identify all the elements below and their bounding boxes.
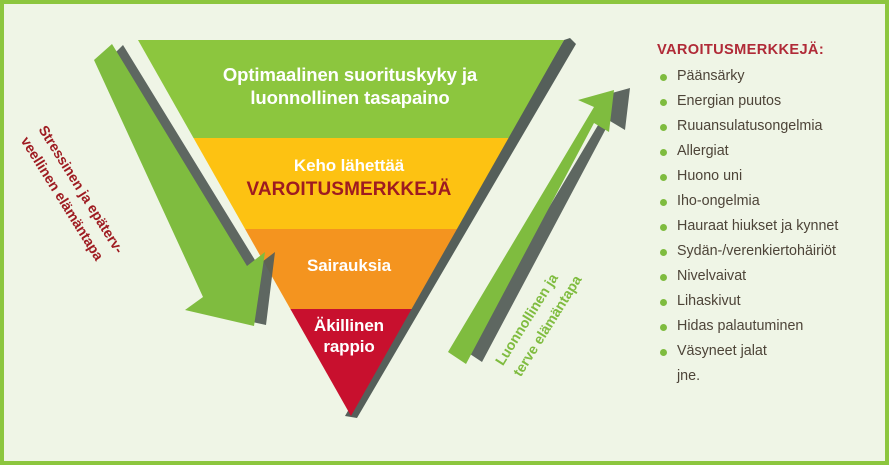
warning-sign-item: Sydän-/verenkiertohäiriöt [657, 244, 885, 260]
bullet-icon [660, 324, 667, 331]
warning-sign-item: Huono uni [657, 169, 885, 185]
warning-sign-item: jne. [657, 369, 885, 385]
infographic-root: Optimaalinen suorituskyky ja luonnolline… [0, 0, 889, 465]
warning-sign-label: Huono uni [677, 168, 742, 184]
bullet-icon [660, 199, 667, 206]
bullet-icon [660, 174, 667, 181]
warning-sign-label: Energian puutos [677, 93, 781, 109]
warning-sign-label: Hidas palautuminen [677, 318, 803, 334]
bullet-icon [660, 224, 667, 231]
bullet-icon [660, 124, 667, 131]
warning-sign-item: Hauraat hiukset ja kynnet [657, 219, 885, 235]
warning-sign-label: Lihaskivut [677, 293, 741, 309]
warning-sign-item: Energian puutos [657, 94, 885, 110]
bullet-icon [660, 74, 667, 81]
warning-sign-item: Allergiat [657, 144, 885, 160]
warning-sign-label: Iho-ongelmia [677, 193, 760, 209]
warning-sign-label: Hauraat hiukset ja kynnet [677, 218, 838, 234]
warning-sign-item: Ruuansulatusongelmia [657, 119, 885, 135]
bullet-icon [660, 299, 667, 306]
warning-signs-list: PäänsärkyEnergian puutosRuuansulatusonge… [657, 69, 885, 385]
warning-signs-title: VAROITUSMERKKEJÄ: [657, 42, 885, 58]
bullet-icon [660, 274, 667, 281]
bullet-icon [660, 149, 667, 156]
warning-sign-item: Hidas palautuminen [657, 319, 885, 335]
warning-sign-item: Lihaskivut [657, 294, 885, 310]
bullet-icon [660, 349, 667, 356]
warning-sign-item: Päänsärky [657, 69, 885, 85]
warning-sign-label: Väsyneet jalat [677, 343, 767, 359]
warning-sign-label: jne. [677, 368, 700, 384]
warning-sign-label: Allergiat [677, 143, 729, 159]
bullet-icon [660, 99, 667, 106]
warning-sign-label: Nivelvaivat [677, 268, 746, 284]
warning-sign-label: Sydän-/verenkiertohäiriöt [677, 243, 836, 259]
band-optimal [124, 34, 584, 138]
warning-sign-item: Väsyneet jalat [657, 344, 885, 360]
warning-sign-label: Ruuansulatusongelmia [677, 118, 822, 134]
warning-sign-item: Nivelvaivat [657, 269, 885, 285]
bullet-icon [660, 249, 667, 256]
warning-signs-panel: VAROITUSMERKKEJÄ: PäänsärkyEnergian puut… [657, 42, 885, 394]
warning-sign-item: Iho-ongelmia [657, 194, 885, 210]
band-akillinen [124, 309, 584, 424]
warning-sign-label: Päänsärky [677, 68, 745, 84]
